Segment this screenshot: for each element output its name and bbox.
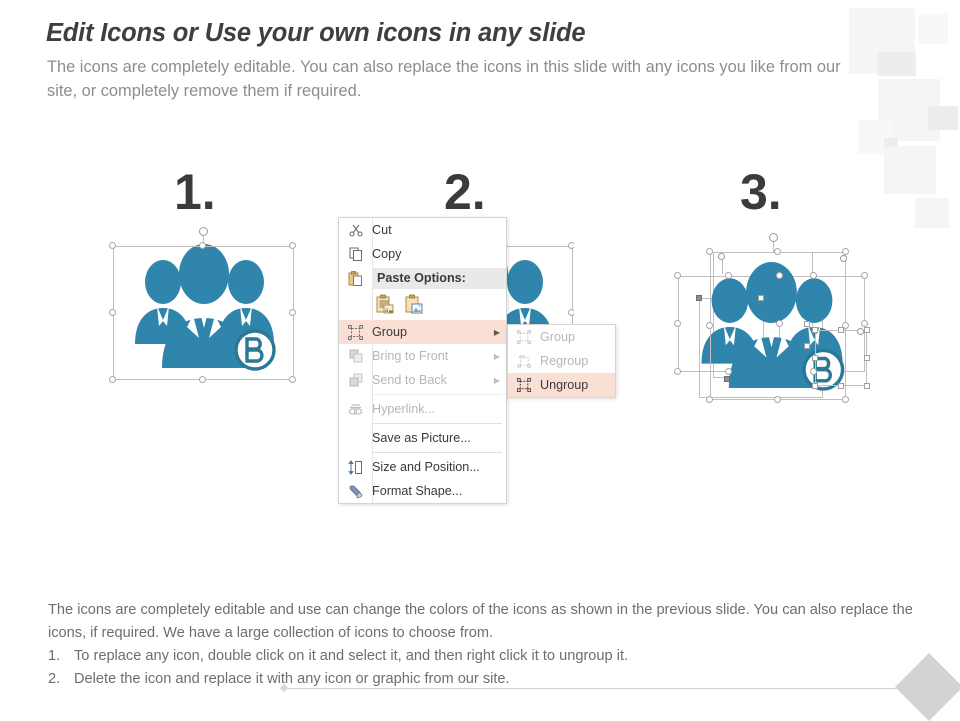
list-item-number: 2.: [48, 668, 74, 691]
resize-handle-part-left-sw[interactable]: [674, 368, 681, 375]
resize-handle-se[interactable]: [289, 376, 296, 383]
resize-handle-badge-s[interactable]: [838, 383, 844, 389]
copy-icon: [339, 242, 372, 266]
menu-item-label: Cut: [372, 223, 506, 237]
resize-handle-body-nw[interactable]: [696, 295, 702, 301]
resize-handle-part-right-ne[interactable]: [861, 272, 868, 279]
footer-paragraph: The icons are completely editable and us…: [48, 599, 932, 644]
menu-item-label: Save as Picture...: [372, 431, 506, 445]
resize-handle-n[interactable]: [774, 248, 781, 255]
menu-item-send-to-back[interactable]: Send to Back ▶: [339, 368, 506, 392]
submenu-item-label: Group: [540, 330, 615, 344]
decorative-square-3: [878, 52, 916, 76]
menu-item-size-and-position[interactable]: Size and Position...: [339, 455, 506, 479]
menu-item-label: Group: [372, 325, 488, 339]
chevron-right-icon: ▶: [488, 328, 506, 337]
menu-item-copy[interactable]: Copy: [339, 242, 506, 266]
submenu-item-label: Regroup: [540, 354, 615, 368]
selection-frame-badge: [815, 330, 867, 386]
submenu-item-ungroup[interactable]: Ungroup: [508, 373, 615, 397]
format-shape-icon: [339, 479, 372, 503]
bring-front-icon: [339, 344, 372, 368]
menu-divider-3: [372, 452, 502, 453]
submenu-item-group[interactable]: Group: [508, 325, 615, 349]
resize-handle-part-right-s[interactable]: [810, 368, 817, 375]
resize-handle-ne[interactable]: [842, 248, 849, 255]
menu-item-label: Copy: [372, 247, 506, 261]
submenu-item-regroup[interactable]: Regroup: [508, 349, 615, 373]
resize-handle-nw[interactable]: [109, 242, 116, 249]
resize-handle-se[interactable]: [842, 396, 849, 403]
menu-item-group[interactable]: Group ▶: [339, 320, 506, 344]
resize-handle-body-sw[interactable]: [724, 376, 730, 382]
regroup-icon: [508, 349, 540, 373]
context-submenu-group[interactable]: Group Regroup Ungroup: [507, 324, 616, 398]
menu-item-label: Format Shape...: [372, 484, 506, 498]
menu-item-cut[interactable]: Cut: [339, 218, 506, 242]
no-icon: [339, 426, 372, 450]
resize-handle-part-left-n[interactable]: [725, 272, 732, 279]
chevron-right-icon: ▶: [488, 376, 506, 385]
rotate-handle[interactable]: [199, 227, 208, 236]
rotate-handle-badge[interactable]: [857, 328, 864, 335]
step-number-3: 3.: [740, 167, 782, 217]
paste-keep-source-formatting-icon[interactable]: a: [375, 294, 395, 317]
send-back-icon: [339, 368, 372, 392]
decorative-square-5: [928, 106, 958, 130]
list-item-text: To replace any icon, double click on it …: [74, 645, 628, 668]
page-subtitle: The icons are completely editable. You c…: [47, 55, 862, 103]
hyperlink-icon: [339, 397, 372, 421]
resize-handle-body-ne[interactable]: [804, 321, 810, 327]
resize-handle-sw[interactable]: [706, 396, 713, 403]
paste-picture-icon[interactable]: [404, 294, 424, 317]
icon-stage-3[interactable]: [680, 238, 866, 410]
chevron-right-icon: ▶: [488, 352, 506, 361]
resize-handle-badge-se[interactable]: [864, 383, 870, 389]
icon-stage-1[interactable]: [113, 232, 295, 380]
submenu-item-label: Ungroup: [540, 378, 615, 392]
paste-icon: [339, 266, 372, 290]
resize-handle-badge-e[interactable]: [864, 355, 870, 361]
selection-frame: [113, 246, 294, 380]
resize-handle-sw[interactable]: [109, 376, 116, 383]
resize-handle-part-left-s[interactable]: [725, 368, 732, 375]
ungroup-icon: [508, 373, 540, 397]
resize-handle-s[interactable]: [774, 396, 781, 403]
rotate-handle-stem-part: [722, 260, 723, 274]
resize-handle-part-right-e[interactable]: [861, 320, 868, 327]
resize-handle-w[interactable]: [706, 322, 713, 329]
resize-handle-body-n[interactable]: [758, 295, 764, 301]
decorative-square-2: [918, 14, 948, 44]
menu-item-hyperlink[interactable]: Hyperlink...: [339, 397, 506, 421]
step-number-1: 1.: [174, 167, 216, 217]
menu-item-format-shape[interactable]: Format Shape...: [339, 479, 506, 503]
group-icon: [339, 320, 372, 344]
resize-handle-s[interactable]: [199, 376, 206, 383]
resize-handle-e[interactable]: [568, 309, 574, 316]
resize-handle-badge-n[interactable]: [838, 327, 844, 333]
menu-item-bring-to-front[interactable]: Bring to Front ▶: [339, 344, 506, 368]
resize-handle-nw[interactable]: [706, 248, 713, 255]
accent-line: [283, 688, 908, 689]
list-item-text: Delete the icon and replace it with any …: [74, 668, 510, 691]
scissors-icon: [339, 218, 372, 242]
resize-handle-part-left-nw[interactable]: [674, 272, 681, 279]
decorative-square-8: [884, 146, 936, 194]
list-item: 2. Delete the icon and replace it with a…: [48, 668, 932, 691]
resize-handle-part-left-w[interactable]: [674, 320, 681, 327]
resize-handle-body-e[interactable]: [804, 343, 810, 349]
menu-item-save-as-picture[interactable]: Save as Picture...: [339, 426, 506, 450]
menu-item-paste-options: Paste Options:: [339, 266, 506, 290]
rotate-handle-part-right[interactable]: [840, 255, 847, 262]
rotate-handle-part-left[interactable]: [718, 253, 725, 260]
resize-handle-e[interactable]: [289, 309, 296, 316]
menu-item-label: Bring to Front: [372, 349, 488, 363]
group-icon: [508, 325, 540, 349]
decorative-square-9: [915, 198, 949, 228]
resize-handle-badge-w[interactable]: [812, 355, 818, 361]
menu-divider-2: [372, 423, 502, 424]
menu-item-label: Paste Options:: [372, 268, 506, 289]
resize-handle-ne[interactable]: [289, 242, 296, 249]
footer-list: 1. To replace any icon, double click on …: [48, 645, 932, 690]
page-title: Edit Icons or Use your own icons in any …: [46, 19, 746, 48]
menu-item-label: Send to Back: [372, 373, 488, 387]
resize-handle-badge-ne[interactable]: [864, 327, 870, 333]
rotate-handle[interactable]: [769, 233, 778, 242]
resize-handle-badge-sw[interactable]: [812, 383, 818, 389]
resize-handle-n[interactable]: [199, 242, 206, 249]
step-number-2: 2.: [444, 167, 486, 217]
resize-handle-badge-nw[interactable]: [812, 327, 818, 333]
size-position-icon: [339, 455, 372, 479]
resize-handle-part-left-ne[interactable]: [776, 272, 783, 279]
list-item: 1. To replace any icon, double click on …: [48, 645, 932, 668]
context-menu[interactable]: Cut Copy Paste Options:: [338, 217, 507, 504]
resize-handle-part-right-n[interactable]: [810, 272, 817, 279]
menu-item-label: Hyperlink...: [372, 402, 506, 416]
resize-handle-w[interactable]: [109, 309, 116, 316]
menu-divider-1: [372, 394, 502, 395]
paste-options-row[interactable]: a: [339, 290, 506, 320]
list-item-number: 1.: [48, 645, 74, 668]
resize-handle-part-left-e[interactable]: [776, 320, 783, 327]
menu-item-label: Size and Position...: [372, 460, 506, 474]
resize-handle-ne[interactable]: [568, 242, 574, 249]
